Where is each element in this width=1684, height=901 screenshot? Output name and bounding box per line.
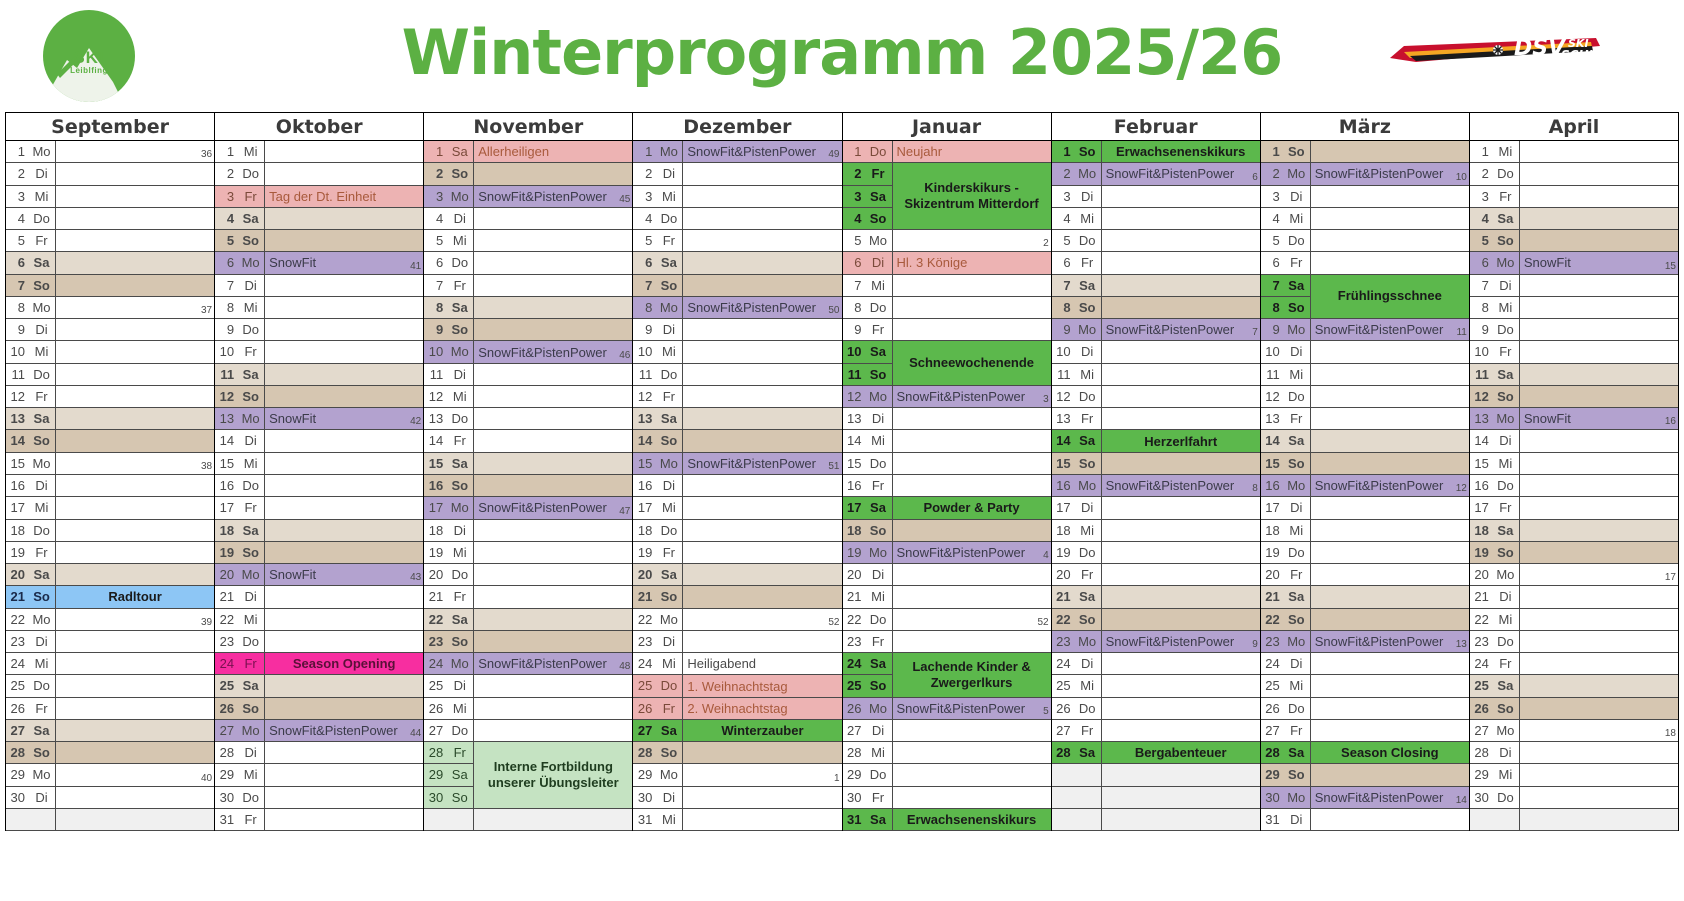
day-row[interactable]: 27Sa <box>6 720 214 742</box>
day-row[interactable]: 23MoSnowFit&PistenPower13 <box>1261 631 1469 653</box>
day-event-cell[interactable]: SnowFit&PistenPower7 <box>1101 319 1260 340</box>
day-row[interactable]: 17Fr <box>215 497 423 519</box>
day-row[interactable]: 14Sa <box>1261 430 1469 452</box>
day-event-cell[interactable] <box>682 564 841 585</box>
day-event-cell[interactable] <box>892 297 1051 318</box>
day-row[interactable]: 17Mi <box>633 497 841 519</box>
day-event-cell[interactable] <box>1310 386 1469 407</box>
day-event-cell[interactable] <box>1310 720 1469 741</box>
day-row[interactable]: 16Di <box>633 475 841 497</box>
day-event-cell[interactable] <box>1101 208 1260 229</box>
day-event-cell[interactable] <box>264 341 423 362</box>
day-event-cell[interactable] <box>264 386 423 407</box>
day-row[interactable]: 6Sa <box>6 252 214 274</box>
day-row[interactable]: 16MoSnowFit&PistenPower12 <box>1261 475 1469 497</box>
day-event-cell[interactable] <box>682 208 841 229</box>
day-event-cell[interactable] <box>1310 230 1469 251</box>
day-event-cell[interactable] <box>682 631 841 652</box>
day-event-cell[interactable] <box>682 787 841 808</box>
day-row[interactable]: 14So <box>633 430 841 452</box>
day-event-cell[interactable] <box>892 275 1051 296</box>
day-row[interactable]: 20Sa <box>6 564 214 586</box>
day-event-cell[interactable] <box>55 809 214 830</box>
day-event-cell[interactable]: SnowFit&PistenPower8 <box>1101 475 1260 496</box>
day-row[interactable]: 3Di <box>1261 186 1469 208</box>
day-event-cell[interactable] <box>682 275 841 296</box>
day-row[interactable]: 4Sa <box>215 208 423 230</box>
day-event-cell[interactable] <box>473 163 632 184</box>
day-event-cell[interactable] <box>682 497 841 518</box>
day-row[interactable]: 27Di <box>843 720 1051 742</box>
day-row[interactable]: 22So <box>1261 609 1469 631</box>
day-event-cell[interactable] <box>1519 475 1678 496</box>
day-event-cell[interactable] <box>1101 497 1260 518</box>
day-row[interactable]: 16Do <box>215 475 423 497</box>
day-event-cell[interactable] <box>892 408 1051 429</box>
day-row[interactable]: 12So <box>215 386 423 408</box>
day-row[interactable]: 22Mi <box>215 609 423 631</box>
day-row[interactable]: 24MoSnowFit&PistenPower48 <box>424 653 632 675</box>
day-row[interactable]: 2Do <box>1470 163 1678 185</box>
day-event-cell[interactable] <box>1310 497 1469 518</box>
day-event-cell[interactable] <box>1310 564 1469 585</box>
day-row[interactable]: 18Mi <box>1052 520 1260 542</box>
day-event-cell[interactable] <box>55 720 214 741</box>
day-event-cell[interactable]: SnowFit&PistenPower44 <box>264 720 423 741</box>
day-row[interactable]: 15Sa <box>424 453 632 475</box>
day-row[interactable]: 4Do <box>6 208 214 230</box>
day-row[interactable]: 17Di <box>1261 497 1469 519</box>
day-row[interactable]: 28SaBergabenteuer <box>1052 742 1260 764</box>
day-row[interactable]: 29So <box>1261 764 1469 786</box>
day-event-cell[interactable] <box>1310 809 1469 830</box>
day-row[interactable]: 19Mi <box>424 542 632 564</box>
day-event-cell[interactable]: SnowFit&PistenPower14 <box>1310 787 1469 808</box>
day-event-cell[interactable] <box>264 275 423 296</box>
day-event-cell[interactable] <box>1519 764 1678 785</box>
day-event-cell[interactable]: SnowFit&PistenPower50 <box>682 297 841 318</box>
day-event-cell[interactable] <box>1101 809 1260 830</box>
day-event-cell[interactable] <box>1519 520 1678 541</box>
day-row[interactable]: 24Fr <box>1470 653 1678 675</box>
day-row[interactable]: 31Di <box>1261 809 1469 831</box>
day-event-cell[interactable] <box>1101 764 1260 785</box>
day-event-cell[interactable]: 37 <box>55 297 214 318</box>
day-row[interactable]: 6Fr <box>1261 252 1469 274</box>
day-row[interactable]: 17Mi <box>6 497 214 519</box>
day-event-cell[interactable] <box>55 275 214 296</box>
day-row[interactable]: 23So <box>424 631 632 653</box>
day-row[interactable]: 30Do <box>1470 787 1678 809</box>
day-event-cell[interactable] <box>1101 252 1260 273</box>
day-event-cell[interactable] <box>264 475 423 496</box>
day-row[interactable]: 18Di <box>424 520 632 542</box>
day-event-cell[interactable] <box>1310 141 1469 162</box>
day-row[interactable]: 19So <box>215 542 423 564</box>
day-row[interactable]: 4Do <box>633 208 841 230</box>
day-event-cell[interactable] <box>1101 186 1260 207</box>
day-event-cell[interactable] <box>55 564 214 585</box>
day-event-cell[interactable]: 38 <box>55 453 214 474</box>
day-row[interactable]: 6Sa <box>633 252 841 274</box>
day-event-cell[interactable] <box>892 430 1051 451</box>
day-event-cell[interactable] <box>1519 319 1678 340</box>
day-event-cell[interactable] <box>55 430 214 451</box>
day-event-cell[interactable]: Tag der Dt. Einheit <box>264 186 423 207</box>
day-event-cell[interactable] <box>473 520 632 541</box>
day-row[interactable]: 10Di <box>1052 341 1260 363</box>
day-event-cell[interactable] <box>55 675 214 696</box>
day-event-cell[interactable] <box>892 631 1051 652</box>
day-row[interactable]: 22Sa <box>424 609 632 631</box>
day-event-cell[interactable] <box>264 230 423 251</box>
day-row[interactable]: 27Fr <box>1052 720 1260 742</box>
day-row[interactable]: 9Do <box>215 319 423 341</box>
day-row[interactable]: 24Mi <box>6 653 214 675</box>
multi-day-event-block[interactable]: Interne Fortbildung unserer Übungsleiter <box>473 743 632 810</box>
day-event-cell[interactable]: Hl. 3 Könige <box>892 252 1051 273</box>
day-event-cell[interactable] <box>473 564 632 585</box>
day-row[interactable]: 13MoSnowFit42 <box>215 408 423 430</box>
day-row[interactable]: 7Mi <box>843 275 1051 297</box>
day-event-cell[interactable] <box>473 430 632 451</box>
day-event-cell[interactable] <box>1101 520 1260 541</box>
day-row-empty[interactable] <box>1052 809 1260 831</box>
day-row[interactable]: 26Do <box>1261 698 1469 720</box>
day-row[interactable]: 12MoSnowFit&PistenPower3 <box>843 386 1051 408</box>
day-row-empty[interactable] <box>1052 764 1260 786</box>
day-row[interactable]: 26Mi <box>424 698 632 720</box>
day-row-empty[interactable] <box>1052 787 1260 809</box>
day-row[interactable]: 8Mi <box>215 297 423 319</box>
day-row[interactable]: 1Mi <box>1470 141 1678 163</box>
day-event-cell[interactable] <box>473 675 632 696</box>
day-event-cell[interactable] <box>55 698 214 719</box>
day-row[interactable]: 28Di <box>1470 742 1678 764</box>
day-event-cell[interactable] <box>1101 230 1260 251</box>
day-row[interactable]: 3Mi <box>6 186 214 208</box>
multi-day-event-block[interactable]: Frühlingsschnee <box>1310 275 1469 320</box>
day-event-cell[interactable] <box>264 764 423 785</box>
day-event-cell[interactable]: Powder & Party <box>892 497 1051 518</box>
day-event-cell[interactable] <box>1101 275 1260 296</box>
day-event-cell[interactable] <box>682 230 841 251</box>
day-event-cell[interactable] <box>1519 542 1678 563</box>
day-event-cell[interactable] <box>1101 408 1260 429</box>
day-event-cell[interactable] <box>264 809 423 830</box>
day-event-cell[interactable] <box>1101 586 1260 607</box>
day-event-cell[interactable] <box>682 430 841 451</box>
day-event-cell[interactable]: 36 <box>55 141 214 162</box>
day-event-cell[interactable] <box>473 408 632 429</box>
day-row[interactable]: 4Di <box>424 208 632 230</box>
day-event-cell[interactable]: Winterzauber <box>682 720 841 741</box>
day-event-cell[interactable] <box>55 386 214 407</box>
day-event-cell[interactable] <box>892 564 1051 585</box>
day-row[interactable]: 31Fr <box>215 809 423 831</box>
day-event-cell[interactable] <box>1519 163 1678 184</box>
day-row[interactable]: 24MiHeiligabend <box>633 653 841 675</box>
day-row-empty[interactable] <box>424 809 632 831</box>
day-event-cell[interactable] <box>55 631 214 652</box>
day-event-cell[interactable] <box>55 364 214 385</box>
day-row[interactable]: 25Sa <box>1470 675 1678 697</box>
day-row[interactable]: 10Fr <box>1470 341 1678 363</box>
day-row[interactable]: 5Mo2 <box>843 230 1051 252</box>
day-event-cell[interactable] <box>264 297 423 318</box>
day-event-cell[interactable] <box>55 208 214 229</box>
day-row[interactable]: 26So <box>1470 698 1678 720</box>
day-event-cell[interactable] <box>892 720 1051 741</box>
day-row[interactable]: 11Di <box>424 364 632 386</box>
day-row[interactable]: 20Sa <box>633 564 841 586</box>
day-event-cell[interactable]: SnowFit&PistenPower5 <box>892 698 1051 719</box>
day-event-cell[interactable] <box>1310 341 1469 362</box>
day-event-cell[interactable]: SnowFit&PistenPower12 <box>1310 475 1469 496</box>
day-row[interactable]: 5Do <box>1261 230 1469 252</box>
day-event-cell[interactable] <box>264 787 423 808</box>
day-event-cell[interactable]: Allerheiligen <box>473 141 632 162</box>
day-row[interactable]: 6MoSnowFit41 <box>215 252 423 274</box>
day-row[interactable]: 17MoSnowFit&PistenPower47 <box>424 497 632 519</box>
day-row[interactable]: 19So <box>1470 542 1678 564</box>
day-event-cell[interactable]: SnowFit43 <box>264 564 423 585</box>
day-event-cell[interactable] <box>1519 341 1678 362</box>
day-row[interactable]: 14Mi <box>843 430 1051 452</box>
day-row[interactable]: 12Fr <box>633 386 841 408</box>
day-event-cell[interactable] <box>473 631 632 652</box>
day-row[interactable]: 31SaErwachsenenskikurs <box>843 809 1051 831</box>
day-row[interactable]: 3FrTag der Dt. Einheit <box>215 186 423 208</box>
day-row[interactable]: 6DiHl. 3 Könige <box>843 252 1051 274</box>
day-row[interactable]: 2MoSnowFit&PistenPower6 <box>1052 163 1260 185</box>
day-event-cell[interactable] <box>1310 653 1469 674</box>
day-event-cell[interactable] <box>1519 141 1678 162</box>
day-row[interactable]: 1DoNeujahr <box>843 141 1051 163</box>
day-row[interactable]: 13MoSnowFit16 <box>1470 408 1678 430</box>
day-row[interactable]: 15So <box>1261 453 1469 475</box>
day-row[interactable]: 23Fr <box>843 631 1051 653</box>
day-row[interactable]: 18Sa <box>1470 520 1678 542</box>
day-event-cell[interactable] <box>473 809 632 830</box>
day-row[interactable]: 9Do <box>1470 319 1678 341</box>
day-event-cell[interactable] <box>1310 453 1469 474</box>
day-row[interactable]: 26So <box>215 698 423 720</box>
day-event-cell[interactable] <box>682 341 841 362</box>
day-event-cell[interactable] <box>1101 386 1260 407</box>
day-event-cell[interactable] <box>1519 275 1678 296</box>
day-event-cell[interactable] <box>1310 252 1469 273</box>
day-event-cell[interactable] <box>55 475 214 496</box>
day-event-cell[interactable] <box>682 386 841 407</box>
day-row[interactable]: 20Fr <box>1261 564 1469 586</box>
day-row[interactable]: 11Do <box>6 364 214 386</box>
day-event-cell[interactable]: Bergabenteuer <box>1101 742 1260 763</box>
day-event-cell[interactable] <box>1519 430 1678 451</box>
day-event-cell[interactable] <box>264 586 423 607</box>
day-event-cell[interactable] <box>1310 408 1469 429</box>
day-row[interactable]: 21Di <box>215 586 423 608</box>
day-row[interactable]: 7Sa <box>1052 275 1260 297</box>
day-row[interactable]: 8Do <box>843 297 1051 319</box>
day-event-cell[interactable]: 52 <box>892 609 1051 630</box>
day-event-cell[interactable] <box>1310 698 1469 719</box>
day-row[interactable]: 28Mi <box>843 742 1051 764</box>
day-event-cell[interactable]: SnowFit&PistenPower10 <box>1310 163 1469 184</box>
day-event-cell[interactable]: SnowFit&PistenPower11 <box>1310 319 1469 340</box>
day-row[interactable]: 2MoSnowFit&PistenPower10 <box>1261 163 1469 185</box>
day-row[interactable]: 17SaPowder & Party <box>843 497 1051 519</box>
day-event-cell[interactable] <box>473 453 632 474</box>
day-row[interactable]: 10MoSnowFit&PistenPower46 <box>424 341 632 363</box>
day-event-cell[interactable]: SnowFit&PistenPower9 <box>1101 631 1260 652</box>
day-row[interactable]: 14So <box>6 430 214 452</box>
day-event-cell[interactable] <box>473 475 632 496</box>
day-row[interactable]: 12Mi <box>424 386 632 408</box>
day-row[interactable]: 10Mi <box>633 341 841 363</box>
day-row[interactable]: 25Sa <box>215 675 423 697</box>
day-event-cell[interactable] <box>55 341 214 362</box>
day-event-cell[interactable]: Neujahr <box>892 141 1051 162</box>
day-row[interactable]: 26Fr <box>6 698 214 720</box>
day-row[interactable]: 11Do <box>633 364 841 386</box>
day-row[interactable]: 13Fr <box>1052 408 1260 430</box>
day-event-cell[interactable] <box>1519 364 1678 385</box>
day-row[interactable]: 22Mi <box>1470 609 1678 631</box>
multi-day-event-block[interactable]: Lachende Kinder & Zwergerlkurs <box>892 653 1051 698</box>
day-event-cell[interactable]: 1 <box>682 764 841 785</box>
day-row[interactable]: 9Di <box>633 319 841 341</box>
day-event-cell[interactable]: SnowFit41 <box>264 252 423 273</box>
day-row[interactable]: 5Mi <box>424 230 632 252</box>
day-event-cell[interactable] <box>1519 586 1678 607</box>
day-event-cell[interactable]: Heiligabend <box>682 653 841 674</box>
day-row[interactable]: 20Di <box>843 564 1051 586</box>
day-row[interactable]: 22So <box>1052 609 1260 631</box>
day-event-cell[interactable]: SnowFit&PistenPower49 <box>682 141 841 162</box>
day-row[interactable]: 24Di <box>1261 653 1469 675</box>
day-event-cell[interactable] <box>55 163 214 184</box>
day-row[interactable]: 12Do <box>1261 386 1469 408</box>
day-event-cell[interactable] <box>1101 675 1260 696</box>
day-row[interactable]: 10Fr <box>215 341 423 363</box>
day-row[interactable]: 14Fr <box>424 430 632 452</box>
day-event-cell[interactable]: 2 <box>892 230 1051 251</box>
day-row[interactable]: 23MoSnowFit&PistenPower9 <box>1052 631 1260 653</box>
day-event-cell[interactable] <box>473 319 632 340</box>
day-row[interactable]: 2Do <box>215 163 423 185</box>
day-row[interactable]: 2Di <box>6 163 214 185</box>
day-event-cell[interactable] <box>892 319 1051 340</box>
day-event-cell[interactable] <box>1310 430 1469 451</box>
day-event-cell[interactable] <box>1519 609 1678 630</box>
day-event-cell[interactable]: SnowFit&PistenPower47 <box>473 497 632 518</box>
day-event-cell[interactable] <box>1519 297 1678 318</box>
day-event-cell[interactable]: 1. Weihnachtstag <box>682 675 841 696</box>
day-row[interactable]: 6MoSnowFit15 <box>1470 252 1678 274</box>
day-event-cell[interactable] <box>473 252 632 273</box>
day-event-cell[interactable] <box>55 186 214 207</box>
day-row[interactable]: 19Do <box>1052 542 1260 564</box>
day-event-cell[interactable] <box>1101 564 1260 585</box>
day-row[interactable]: 17Di <box>1052 497 1260 519</box>
day-row[interactable]: 13Fr <box>1261 408 1469 430</box>
day-event-cell[interactable] <box>1310 208 1469 229</box>
day-event-cell[interactable] <box>55 319 214 340</box>
day-row[interactable]: 1So <box>1261 141 1469 163</box>
day-row[interactable]: 26Do <box>1052 698 1260 720</box>
day-event-cell[interactable] <box>892 586 1051 607</box>
day-row[interactable]: 1Mo36 <box>6 141 214 163</box>
day-row[interactable]: 12Do <box>1052 386 1260 408</box>
day-event-cell[interactable] <box>473 698 632 719</box>
day-row[interactable]: 20Fr <box>1052 564 1260 586</box>
day-event-cell[interactable] <box>264 542 423 563</box>
day-event-cell[interactable] <box>473 586 632 607</box>
day-row[interactable]: 15MoSnowFit&PistenPower51 <box>633 453 841 475</box>
day-row[interactable]: 21So <box>633 586 841 608</box>
day-event-cell[interactable] <box>1101 364 1260 385</box>
day-event-cell[interactable]: SnowFit&PistenPower4 <box>892 542 1051 563</box>
day-event-cell[interactable]: 52 <box>682 609 841 630</box>
day-row[interactable]: 24Di <box>1052 653 1260 675</box>
day-row[interactable]: 10Di <box>1261 341 1469 363</box>
day-event-cell[interactable] <box>473 275 632 296</box>
day-row[interactable]: 28Di <box>215 742 423 764</box>
day-row[interactable]: 16MoSnowFit&PistenPower8 <box>1052 475 1260 497</box>
day-row[interactable]: 20Do <box>424 564 632 586</box>
day-row[interactable]: 3Di <box>1052 186 1260 208</box>
day-event-cell[interactable] <box>473 208 632 229</box>
day-row[interactable]: 29Mo1 <box>633 764 841 786</box>
day-event-cell[interactable] <box>1101 341 1260 362</box>
day-event-cell[interactable] <box>264 208 423 229</box>
day-event-cell[interactable] <box>264 163 423 184</box>
day-row[interactable]: 14Di <box>215 430 423 452</box>
day-row[interactable]: 31Mi <box>633 809 841 831</box>
day-row[interactable]: 21Mi <box>843 586 1051 608</box>
day-row[interactable]: 5Do <box>1052 230 1260 252</box>
day-row[interactable]: 21Sa <box>1052 586 1260 608</box>
day-event-cell[interactable] <box>1310 675 1469 696</box>
day-row[interactable]: 7Di <box>215 275 423 297</box>
day-row[interactable]: 19Fr <box>633 542 841 564</box>
day-event-cell[interactable]: SnowFit&PistenPower46 <box>473 341 632 362</box>
day-row[interactable]: 11Mi <box>1261 364 1469 386</box>
day-row[interactable]: 25Do1. Weihnachtstag <box>633 675 841 697</box>
day-row[interactable]: 24FrSeason Opening <box>215 653 423 675</box>
day-event-cell[interactable] <box>892 520 1051 541</box>
day-event-cell[interactable] <box>1519 230 1678 251</box>
day-row[interactable]: 29Mi <box>215 764 423 786</box>
day-row[interactable]: 7Di <box>1470 275 1678 297</box>
day-event-cell[interactable] <box>264 631 423 652</box>
day-row[interactable]: 13Do <box>424 408 632 430</box>
day-row[interactable]: 30MoSnowFit&PistenPower14 <box>1261 787 1469 809</box>
day-event-cell[interactable]: 40 <box>55 764 214 785</box>
day-event-cell[interactable] <box>473 230 632 251</box>
day-row[interactable]: 20Mo17 <box>1470 564 1678 586</box>
day-event-cell[interactable] <box>682 742 841 763</box>
day-event-cell[interactable] <box>1519 698 1678 719</box>
day-row[interactable]: 8So <box>1052 297 1260 319</box>
day-row[interactable]: 25Mi <box>1261 675 1469 697</box>
day-event-cell[interactable] <box>264 698 423 719</box>
day-event-cell[interactable] <box>682 319 841 340</box>
day-row[interactable]: 15Do <box>843 453 1051 475</box>
day-event-cell[interactable] <box>1519 386 1678 407</box>
day-event-cell[interactable] <box>892 764 1051 785</box>
